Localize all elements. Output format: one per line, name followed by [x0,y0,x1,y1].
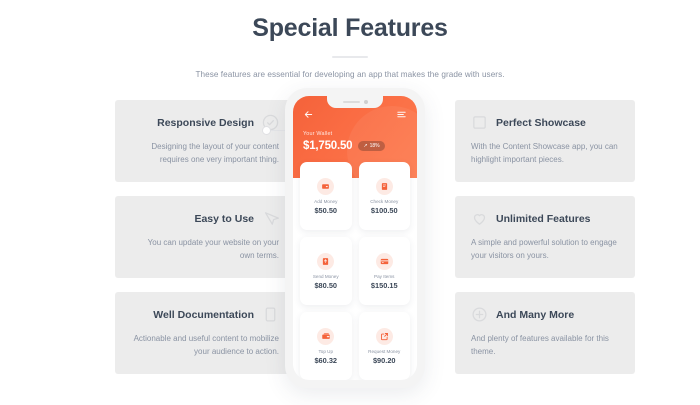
feature-description: And plenty of features available for thi… [471,332,619,358]
tile-label: Add Money [314,199,337,204]
top-up-icon [317,328,334,345]
tile-value: $80.50 [314,281,337,290]
phone-screen: Your Wallet $1,750.50 ↗ 18% [293,96,417,380]
feature-description: A simple and powerful solution to engage… [471,236,619,262]
feature-description: With the Content Showcase app, you can h… [471,140,619,166]
tile-label: Pay Items [374,274,394,279]
plus-circle-icon [471,306,488,323]
feature-description: Designing the layout of your content req… [131,140,279,166]
feature-card-easy-to-use[interactable]: Easy to Use You can update your website … [115,196,295,278]
wallet-tile-send-money[interactable]: Send Money $80.50 [300,237,352,305]
tile-label: Top Up [318,349,333,354]
tile-value: $60.32 [314,356,337,365]
phone-notch [327,96,383,108]
trend-up-icon: ↗ [363,144,367,149]
feature-description: Actionable and useful content to mobiliz… [131,332,279,358]
wallet-growth-badge: ↗ 18% [358,141,384,151]
document-icon [262,306,279,323]
feature-card-head: Easy to Use [131,210,279,227]
page-subtitle: These features are essential for develop… [0,70,700,79]
cursor-click-icon [262,210,279,227]
connector-dot [262,126,271,135]
wallet-tile-add-money[interactable]: Add Money $50.50 [300,162,352,230]
wallet-tile-top-up[interactable]: Top Up $60.32 [300,312,352,380]
feature-title: Well Documentation [153,309,254,321]
app-topbar [303,109,407,120]
hamburger-menu-icon[interactable] [396,109,407,120]
feature-card-head: And Many More [471,306,619,323]
feature-card-head: Perfect Showcase [471,114,619,131]
wallet-balance-row: $1,750.50 ↗ 18% [303,140,407,152]
feature-title: Unlimited Features [496,213,591,225]
wallet-label: Your Wallet [303,131,407,137]
camera-icon [364,100,368,104]
feature-card-unlimited-features[interactable]: Unlimited Features A simple and powerful… [455,196,635,278]
tile-label: Send Money [313,274,339,279]
feature-title: Easy to Use [194,213,254,225]
heart-icon [471,210,488,227]
feature-card-and-many-more[interactable]: And Many More And plenty of features ava… [455,292,635,374]
wallet-tile-request-money[interactable]: Request Money $90.20 [359,312,411,380]
tile-label: Check Money [370,199,398,204]
add-money-icon [317,178,334,195]
request-money-icon [376,328,393,345]
tile-value: $100.50 [371,206,398,215]
pay-items-icon [376,253,393,270]
feature-card-responsive-design[interactable]: Responsive Design Designing the layout o… [115,100,295,182]
left-feature-column: Responsive Design Designing the layout o… [115,100,295,388]
tile-label: Request Money [368,349,400,354]
feature-card-perfect-showcase[interactable]: Perfect Showcase With the Content Showca… [455,100,635,182]
tile-value: $50.50 [314,206,337,215]
special-features-section: Special Features These features are esse… [0,0,700,405]
square-icon [471,114,488,131]
feature-title: Responsive Design [157,117,254,129]
feature-card-head: Well Documentation [131,306,279,323]
check-money-icon [376,178,393,195]
wallet-amount: $1,750.50 [303,140,352,152]
page-title: Special Features [0,14,700,43]
speaker-icon [343,101,360,103]
title-divider [332,56,368,58]
feature-card-head: Responsive Design [131,114,279,131]
wallet-tile-pay-items[interactable]: Pay Items $150.15 [359,237,411,305]
feature-title: Perfect Showcase [496,117,586,129]
right-feature-column: Perfect Showcase With the Content Showca… [455,100,635,388]
wallet-action-grid: Add Money $50.50 Check Money $100.50 [293,162,417,380]
tile-value: $90.20 [373,356,396,365]
wallet-tile-check-money[interactable]: Check Money $100.50 [359,162,411,230]
send-money-icon [317,253,334,270]
phone-mockup: Your Wallet $1,750.50 ↗ 18% [285,88,425,388]
feature-description: You can update your website on your own … [131,236,279,262]
feature-card-head: Unlimited Features [471,210,619,227]
tile-value: $150.15 [371,281,398,290]
wallet-growth-value: 18% [370,143,380,149]
feature-card-well-documentation[interactable]: Well Documentation Actionable and useful… [115,292,295,374]
feature-title: And Many More [496,309,574,321]
section-header: Special Features These features are esse… [0,0,700,79]
arrow-left-icon[interactable] [303,109,314,120]
